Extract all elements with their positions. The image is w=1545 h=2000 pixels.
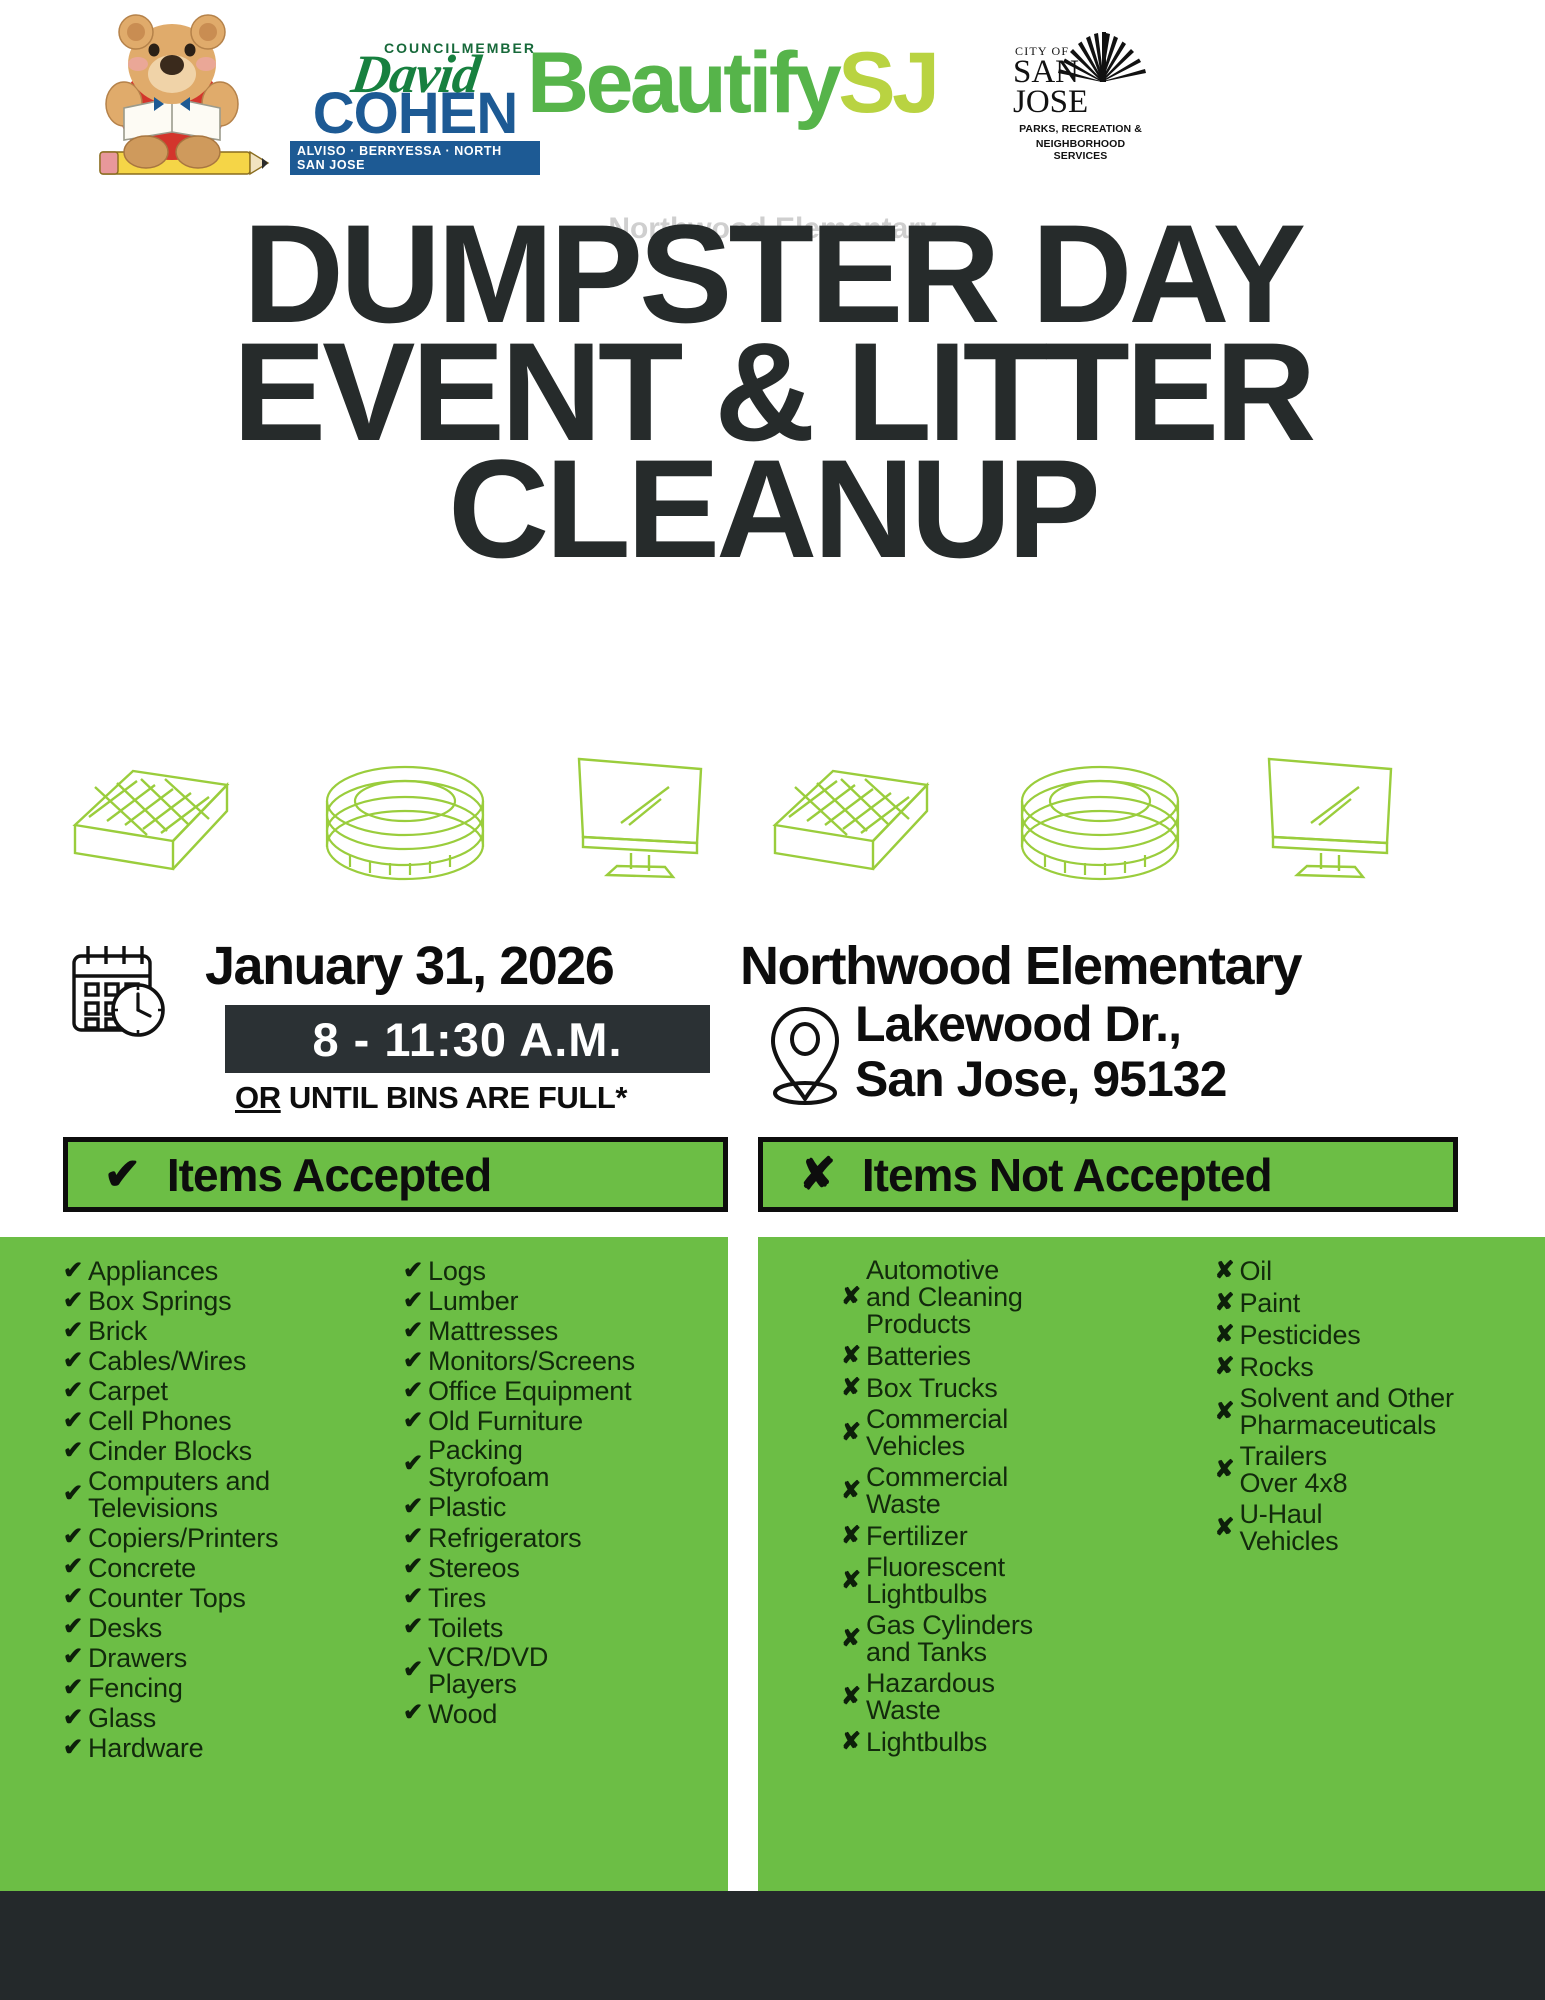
map-pin-icon [765,1003,845,1112]
check-icon: ✔ [58,1409,88,1434]
list-item-label: Hardware [88,1734,203,1762]
tires-icon [1015,755,1185,885]
list-item: ✔PackingStyrofoam [398,1437,728,1491]
list-item: ✔Computers andTelevisions [58,1468,388,1522]
beautifysj-part-a: Beautify [527,35,838,131]
list-item: ✔Glass [58,1704,388,1732]
items-not-accepted-panel: ✘Automotiveand CleaningProducts✘Batterie… [758,1237,1545,1891]
list-item-label: Pesticides [1240,1321,1361,1349]
event-venue: Northwood Elementary [740,935,1301,997]
check-icon: ✔ [58,1676,88,1701]
cross-icon: ✘ [1210,1291,1240,1316]
list-item: ✔Old Furniture [398,1407,728,1435]
list-item-label: Gas Cylindersand Tanks [866,1612,1033,1666]
check-icon: ✔ [398,1701,428,1726]
check-icon: ✔ [398,1349,428,1374]
list-item-label: Box Trucks [866,1374,998,1402]
list-item-label: Logs [428,1257,486,1285]
until-rest-label: UNTIL BINS ARE FULL* [281,1080,627,1115]
event-time-badge: 8 - 11:30 A.M. [225,1005,710,1073]
cross-icon: ✘ [1210,1355,1240,1380]
cross-icon: ✘ [836,1421,866,1446]
cross-icon: ✘ [836,1627,866,1652]
list-item: ✔Mattresses [398,1317,728,1345]
tires-icon [320,755,490,885]
list-item: ✔Copiers/Printers [58,1524,388,1552]
cohen-districts-label: ALVISO · BERRYESSA · NORTH SAN JOSE [290,141,540,175]
check-icon: ✔ [398,1495,428,1520]
list-item-label: TrailersOver 4x8 [1240,1443,1348,1497]
list-item: ✔Refrigerators [398,1524,728,1552]
list-item-label: Drawers [88,1644,187,1672]
list-item-label: CommercialVehicles [866,1406,1008,1460]
list-item: ✘Automotiveand CleaningProducts [836,1257,1172,1338]
check-icon: ✔ [58,1289,88,1314]
list-item-label: Monitors/Screens [428,1347,635,1375]
list-item: ✘TrailersOver 4x8 [1210,1443,1545,1497]
list-item: ✔Hardware [58,1734,388,1762]
calendar-clock-icon [68,940,170,1045]
cross-icon: ✘ [1210,1458,1240,1483]
check-icon: ✔ [398,1379,428,1404]
list-item-label: Plastic [428,1493,506,1521]
list-item-label: Lightbulbs [866,1728,987,1756]
items-not-accepted-header: ✘ Items Not Accepted [758,1137,1458,1212]
check-icon: ✔ [398,1555,428,1580]
list-item: ✔Lumber [398,1287,728,1315]
check-icon: ✔ [398,1658,428,1683]
list-item: ✘CommercialWaste [836,1464,1172,1518]
list-item-label: Mattresses [428,1317,558,1345]
sj-sub-line-1: PARKS, RECREATION & [1019,123,1142,135]
list-item-label: Lumber [428,1287,518,1315]
list-item: ✘Rocks [1210,1353,1545,1381]
list-item-label: Desks [88,1614,162,1642]
list-item: ✔Cinder Blocks [58,1437,388,1465]
check-icon: ✔ [58,1259,88,1284]
list-item-label: Oil [1240,1257,1272,1285]
header: COUNCILMEMBER David COHEN ALVISO · BERRY… [0,0,1545,215]
list-item: ✘Oil [1210,1257,1545,1285]
list-item: ✘Paint [1210,1289,1545,1317]
list-item-label: Batteries [866,1342,971,1370]
list-item: ✔Tires [398,1584,728,1612]
cross-icon: ✘ [836,1479,866,1504]
title-line-3: CLEANUP [0,450,1545,568]
list-item: ✘Pesticides [1210,1321,1545,1349]
check-icon: ✔ [58,1585,88,1610]
cross-icon: ✘ [836,1685,866,1710]
flyer-page: COUNCILMEMBER David COHEN ALVISO · BERRY… [0,0,1545,2000]
check-icon: ✔ [398,1585,428,1610]
check-icon: ✔ [58,1555,88,1580]
check-icon: ✔ [58,1439,88,1464]
list-item: ✔Appliances [58,1257,388,1285]
list-item: ✔Plastic [398,1493,728,1521]
items-accepted-label: Items Accepted [167,1148,491,1202]
list-item-label: Carpet [88,1377,168,1405]
mattress-icon [55,755,245,885]
list-item-label: VCR/DVDPlayers [428,1644,548,1698]
list-item: ✘HazardousWaste [836,1670,1172,1724]
list-item-label: PackingStyrofoam [428,1437,549,1491]
beautifysj-logo: BeautifySJ [527,40,937,126]
items-accepted-panel: ✔Appliances✔Box Springs✔Brick✔Cables/Wir… [0,1237,728,1891]
list-item: ✔VCR/DVDPlayers [398,1644,728,1698]
list-item: ✘FluorescentLightbulbs [836,1554,1172,1608]
list-item-label: Cables/Wires [88,1347,246,1375]
event-address-line-1: Lakewood Dr., [855,995,1181,1053]
list-item: ✘Box Trucks [836,1374,1172,1402]
illustration-strip [0,735,1545,920]
cross-icon: ✘ [1210,1259,1240,1284]
list-item-label: Glass [88,1704,156,1732]
list-item-label: Box Springs [88,1287,231,1315]
beautifysj-part-b: SJ [838,35,936,131]
list-item: ✔Monitors/Screens [398,1347,728,1375]
list-item: ✘CommercialVehicles [836,1406,1172,1460]
check-icon: ✔ [58,1645,88,1670]
event-address-line-2: San Jose, 95132 [855,1050,1226,1108]
cross-icon: ✘ [836,1569,866,1594]
mattress-icon [755,755,945,885]
check-icon: ✔ [398,1452,428,1477]
list-item-label: Concrete [88,1554,196,1582]
accepted-column-1: ✔Appliances✔Box Springs✔Brick✔Cables/Wir… [0,1257,388,1891]
check-icon: ✔ [58,1736,88,1761]
items-accepted-columns: ✔Appliances✔Box Springs✔Brick✔Cables/Wir… [0,1237,728,1891]
list-item-label: Cinder Blocks [88,1437,252,1465]
list-item: ✔Carpet [58,1377,388,1405]
list-item-label: Office Equipment [428,1377,631,1405]
check-icon: ✔ [398,1319,428,1344]
list-item: ✘U-HaulVehicles [1210,1501,1545,1555]
check-icon: ✔ [398,1259,428,1284]
list-item: ✘Gas Cylindersand Tanks [836,1612,1172,1666]
event-date: January 31, 2026 [205,935,613,997]
list-item: ✔Toilets [398,1614,728,1642]
cross-icon: ✘ [799,1153,836,1197]
cross-icon: ✘ [1210,1400,1240,1425]
list-item: ✔Wood [398,1700,728,1728]
list-item: ✘Batteries [836,1342,1172,1370]
councilmember-david-cohen-logo: COUNCILMEMBER David COHEN ALVISO · BERRY… [290,40,540,165]
list-item-label: FluorescentLightbulbs [866,1554,1005,1608]
list-item-label: Paint [1240,1289,1301,1317]
list-item-label: Fencing [88,1674,183,1702]
check-icon: ✔ [58,1482,88,1507]
page-title: DUMPSTER DAY EVENT & LITTER CLEANUP [0,215,1545,568]
cross-icon: ✘ [836,1376,866,1401]
list-item-label: Old Furniture [428,1407,583,1435]
list-item: ✔Drawers [58,1644,388,1672]
until-bins-full-note: OR UNTIL BINS ARE FULL* [235,1080,627,1116]
list-item: ✔Box Springs [58,1287,388,1315]
list-item: ✔Fencing [58,1674,388,1702]
list-item-label: CommercialWaste [866,1464,1008,1518]
until-or-label: OR [235,1080,281,1115]
event-info: January 31, 2026 Northwood Elementary 8 … [0,925,1545,1125]
check-icon: ✔ [58,1319,88,1344]
check-icon: ✔ [398,1289,428,1314]
footer-bar [0,1891,1545,2000]
list-item-label: Counter Tops [88,1584,246,1612]
list-item: ✔Office Equipment [398,1377,728,1405]
list-item-label: Cell Phones [88,1407,231,1435]
list-item: ✔Desks [58,1614,388,1642]
check-icon: ✔ [104,1153,141,1197]
list-item-label: Brick [88,1317,147,1345]
cross-icon: ✘ [1210,1323,1240,1348]
list-item: ✔Counter Tops [58,1584,388,1612]
check-icon: ✔ [58,1349,88,1374]
cross-icon: ✘ [836,1344,866,1369]
items-not-accepted-columns: ✘Automotiveand CleaningProducts✘Batterie… [758,1237,1545,1891]
list-item-label: Stereos [428,1554,520,1582]
list-item: ✔Logs [398,1257,728,1285]
check-icon: ✔ [398,1525,428,1550]
check-icon: ✔ [398,1615,428,1640]
cross-icon: ✘ [836,1524,866,1549]
list-item: ✘Lightbulbs [836,1728,1172,1756]
list-item-label: Fertilizer [866,1522,968,1550]
list-item-label: Appliances [88,1257,218,1285]
city-of-san-jose-prns-logo: CITY OF SAN JOSE PARKS, RECREATION & NEI… [1013,32,1148,144]
list-item-label: Rocks [1240,1353,1314,1381]
list-item: ✘Fertilizer [836,1522,1172,1550]
rejected-column-1: ✘Automotiveand CleaningProducts✘Batterie… [758,1257,1172,1891]
list-item-label: Tires [428,1584,486,1612]
monitor-icon [565,745,715,885]
monitor-icon [1255,745,1405,885]
cross-icon: ✘ [836,1285,866,1310]
check-icon: ✔ [398,1409,428,1434]
list-item-label: Computers andTelevisions [88,1468,270,1522]
list-item: ✔Cell Phones [58,1407,388,1435]
list-item-label: Toilets [428,1614,503,1642]
rejected-column-2: ✘Oil✘Paint✘Pesticides✘Rocks✘Solvent and … [1172,1257,1545,1891]
list-item-label: Wood [428,1700,497,1728]
list-item: ✔Brick [58,1317,388,1345]
list-item-label: Copiers/Printers [88,1524,278,1552]
panel-divider [728,1237,758,1891]
check-icon: ✔ [58,1525,88,1550]
list-item: ✔Cables/Wires [58,1347,388,1375]
sj-sub-line-2: NEIGHBORHOOD SERVICES [1013,138,1148,163]
cohen-first-name: David [348,50,482,100]
cross-icon: ✘ [836,1730,866,1755]
items-accepted-header: ✔ Items Accepted [63,1137,728,1212]
list-item: ✘Solvent and OtherPharmaceuticals [1210,1385,1545,1439]
list-item-label: Automotiveand CleaningProducts [866,1257,1023,1338]
list-item: ✔Concrete [58,1554,388,1582]
check-icon: ✔ [58,1706,88,1731]
check-icon: ✔ [58,1615,88,1640]
check-icon: ✔ [58,1379,88,1404]
accepted-column-2: ✔Logs✔Lumber✔Mattresses✔Monitors/Screens… [388,1257,728,1891]
list-item: ✔Stereos [398,1554,728,1582]
cross-icon: ✘ [1210,1516,1240,1541]
list-item-label: Refrigerators [428,1524,581,1552]
bear-reading-book-icon [72,12,272,202]
list-item-label: U-HaulVehicles [1240,1501,1339,1555]
sunburst-icon [1054,26,1150,82]
list-item-label: Solvent and OtherPharmaceuticals [1240,1385,1454,1439]
list-item-label: HazardousWaste [866,1670,995,1724]
items-not-accepted-label: Items Not Accepted [862,1148,1272,1202]
